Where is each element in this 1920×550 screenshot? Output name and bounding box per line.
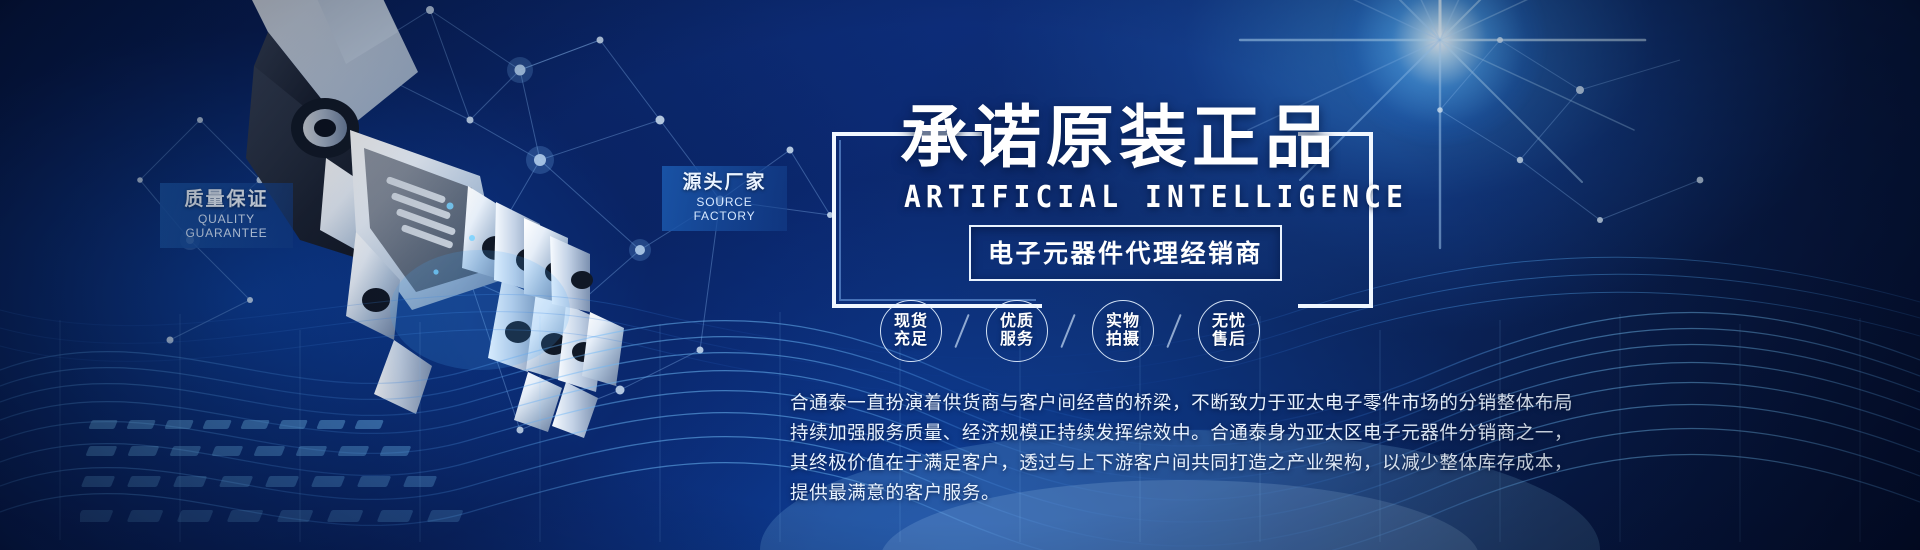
promo-banner: 质量保证 QUALITY GUARANTEE 源头厂家 SOURCE FACTO… (0, 0, 1920, 550)
vignette-overlay (0, 0, 1920, 550)
